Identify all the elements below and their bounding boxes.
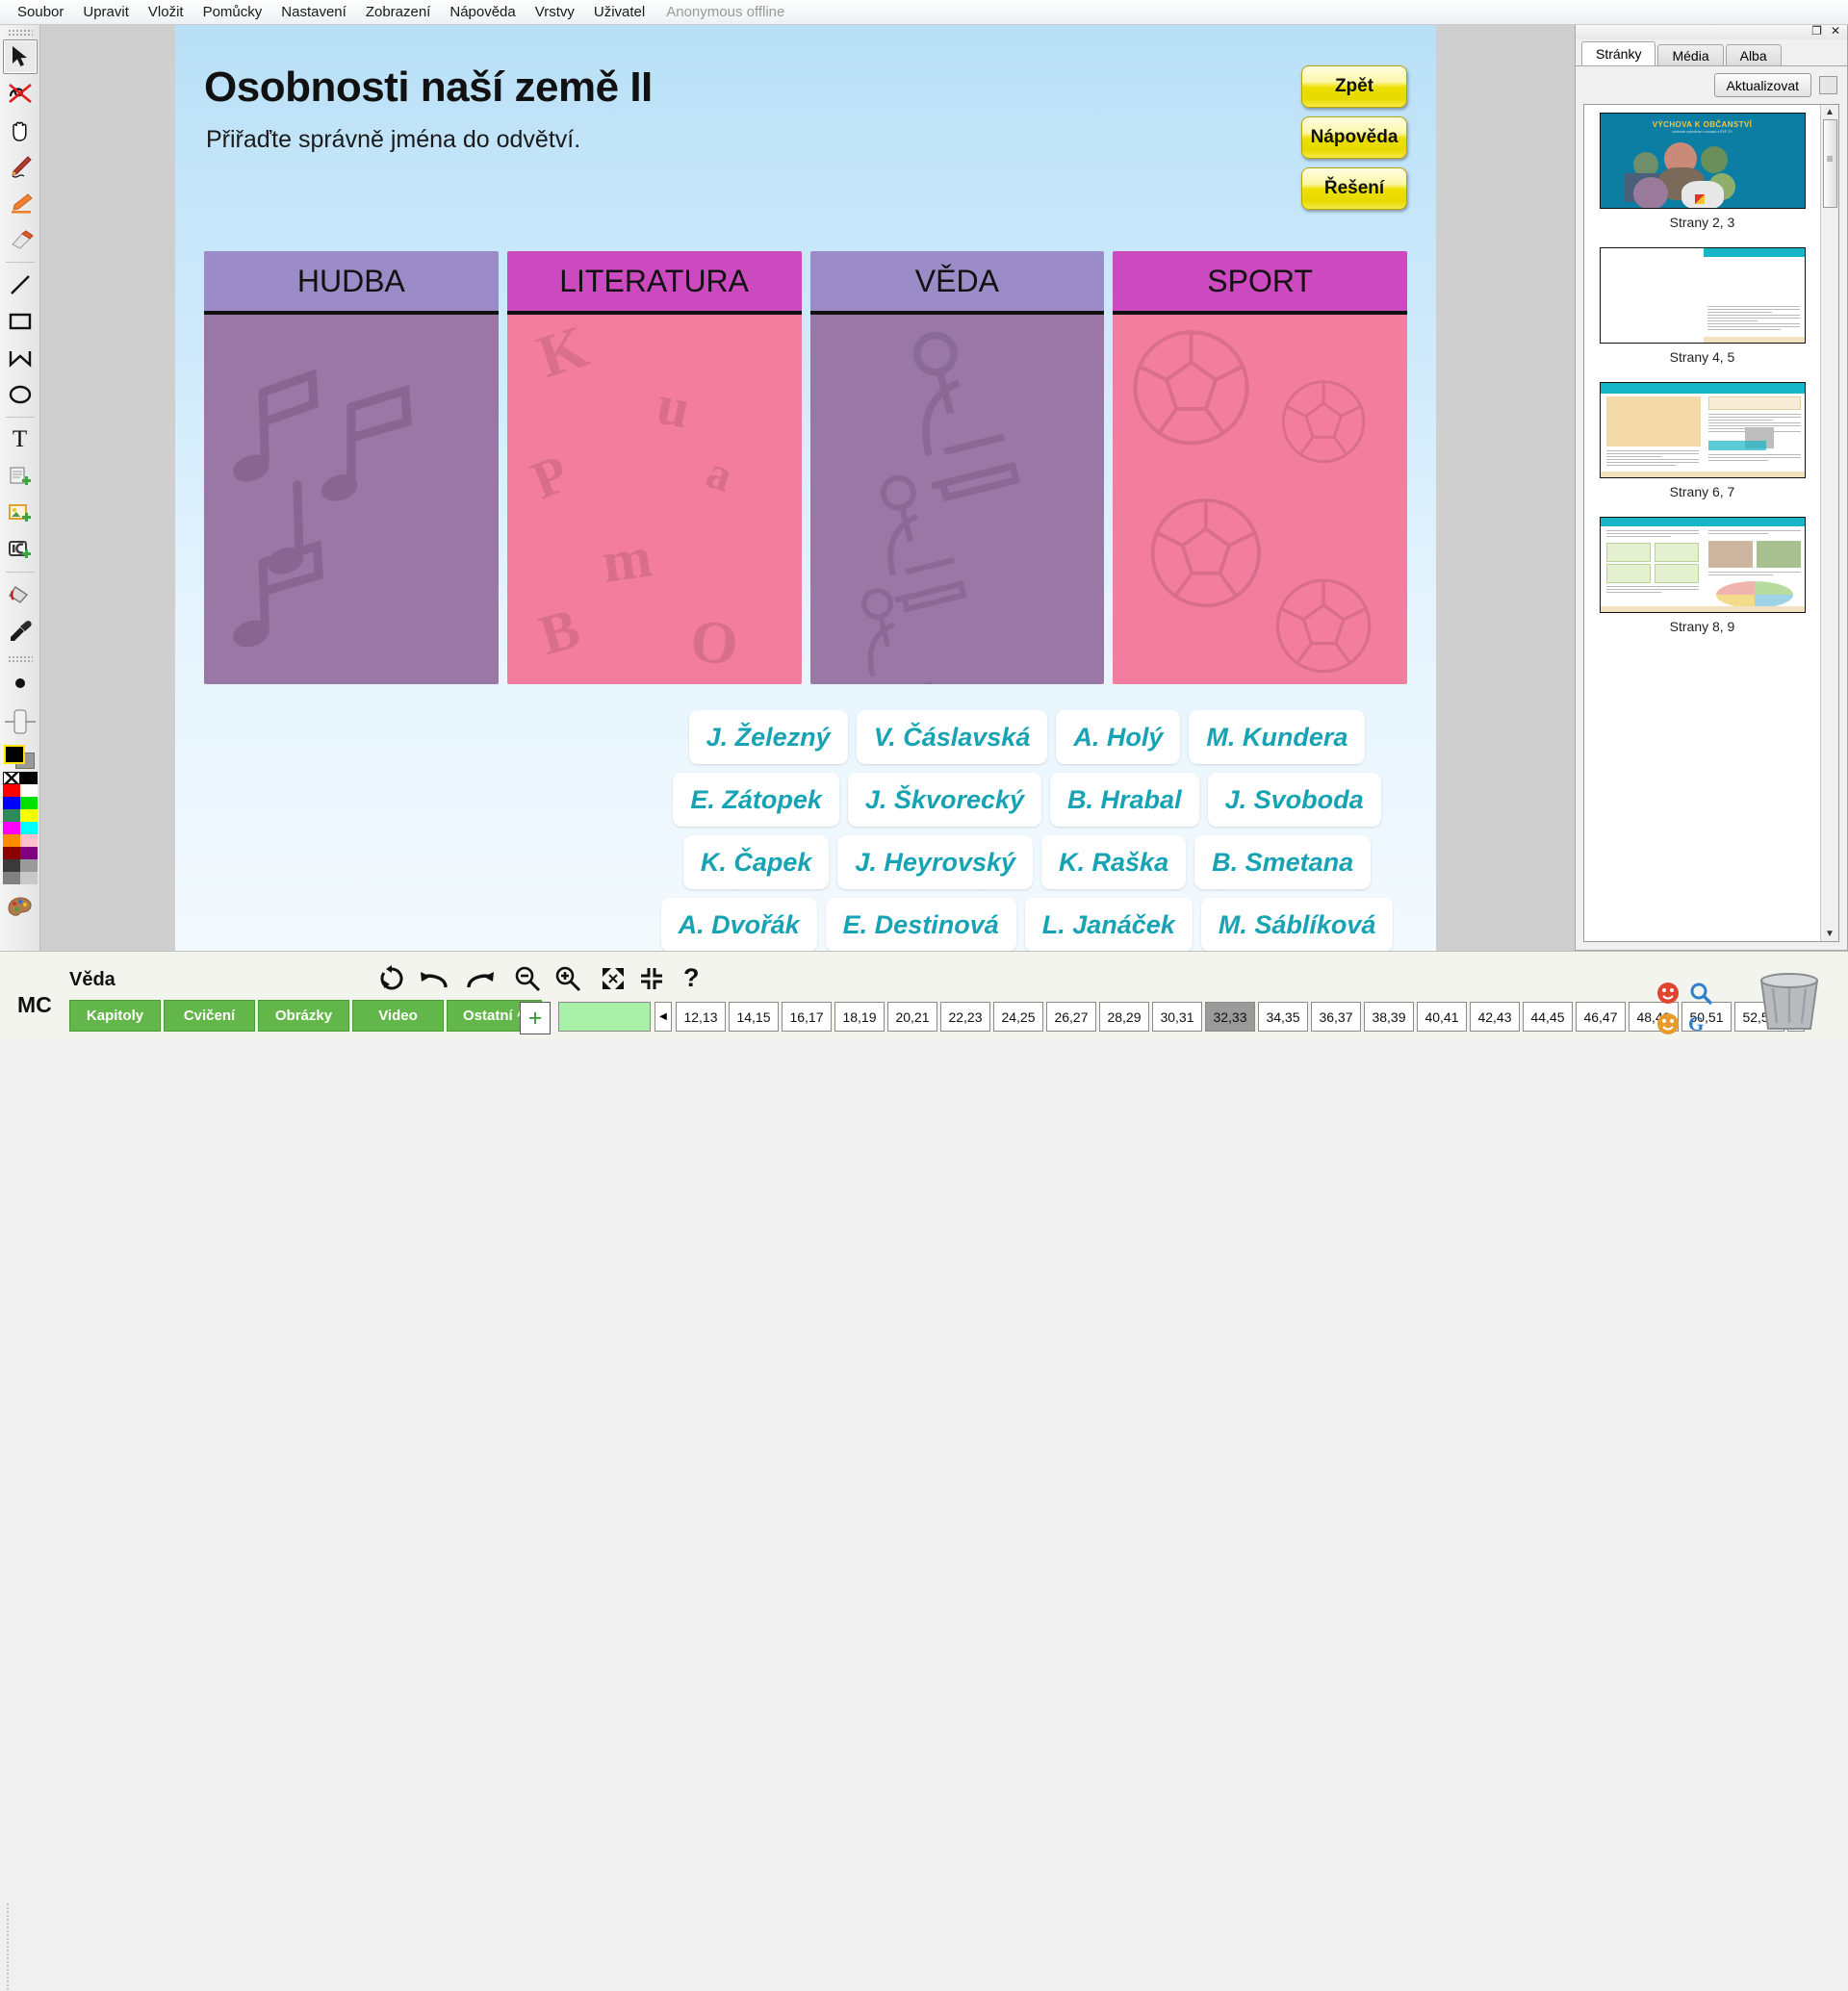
name-tile[interactable]: J. Heyrovský [837,835,1033,889]
page-button[interactable]: 20,21 [887,1002,937,1032]
smiley-red-icon[interactable] [1655,981,1681,1006]
menu-item-vlozit[interactable]: Vložit [139,1,193,23]
soccer-balls-decor [1113,315,1407,684]
color-swatch[interactable] [20,809,38,822]
left-toolbar: T [0,25,40,1039]
page-navigator: ◀ 12,1314,1516,1718,1920,2122,2324,2526,… [654,1002,1805,1032]
search-blue-icon[interactable] [1688,981,1713,1006]
erase-annotations-icon[interactable] [3,76,38,111]
smiley-orange-icon[interactable] [1655,1011,1681,1036]
page-button[interactable]: 32,33 [1205,1002,1255,1032]
svg-text:a: a [700,446,738,502]
thumbnail-list[interactable]: VÝCHOVA K OBČANSTVÍ učebnice vytvořena v… [1584,105,1820,941]
page-button[interactable]: 34,35 [1258,1002,1308,1032]
panel-scrollbar[interactable]: ▲ ▼ [1820,105,1838,941]
name-tile[interactable]: M. Sáblíková [1201,898,1394,951]
name-tile[interactable]: K. Čapek [683,835,830,889]
auto-refresh-checkbox[interactable] [1819,76,1837,94]
fullscreen-collapse-icon[interactable] [639,966,664,991]
page-button[interactable]: 38,39 [1364,1002,1414,1032]
color-swatch[interactable] [3,797,20,809]
name-tile[interactable]: V. Čáslavská [857,710,1048,764]
bottom-grip[interactable] [0,1902,13,1991]
color-palette-grid[interactable] [3,772,38,884]
page-thumbnail[interactable]: VÝCHOVA K OBČANSTVÍ učebnice vytvořena v… [1600,113,1806,209]
thumbnail-caption: Strany 2, 3 [1670,215,1735,230]
zoom-out-icon[interactable] [514,965,541,992]
slide-content[interactable]: Osobnosti naší země II Přiřaďte správně … [175,25,1436,951]
scroll-down-arrow[interactable]: ▼ [1825,929,1835,939]
polygon-icon[interactable] [3,341,38,375]
menu-item-soubor[interactable]: Soubor [8,1,73,23]
category-literatura[interactable]: LITERATURA K u P a m B O [507,251,802,684]
eyedropper-icon[interactable] [3,614,38,649]
line-icon[interactable] [3,268,38,302]
tab-media[interactable]: Média [1657,44,1723,65]
bottom-bar: MC Věda Kapitoly Cvičení Obrázky Video O… [0,951,1848,1039]
cover-title: VÝCHOVA K OBČANSTVÍ [1601,120,1805,129]
name-row: J. Železný V. Čáslavská A. Holý M. Kunde… [560,710,1494,764]
category-button-bar: Kapitoly Cvičení Obrázky Video Ostatní ^ [69,1000,542,1032]
refresh-button[interactable]: Aktualizovat [1714,73,1811,97]
page-button[interactable]: 26,27 [1046,1002,1096,1032]
hand-pan-icon[interactable] [3,113,38,147]
thumbnail-caption: Strany 4, 5 [1670,349,1735,365]
page-button[interactable]: 22,23 [940,1002,990,1032]
name-row: A. Dvořák E. Destinová L. Janáček M. Sáb… [560,898,1494,951]
menu-item-napoveda[interactable]: Nápověda [440,1,525,23]
name-tile[interactable]: J. Železný [689,710,848,764]
menu-item-uzivatel[interactable]: Uživatel [584,1,654,23]
menu-item-nastaveni[interactable]: Nastavení [271,1,356,23]
canvas-area[interactable]: Osobnosti naší země II Přiřaďte správně … [40,25,1575,951]
color-swatch[interactable] [3,872,20,884]
category-label: HUDBA [204,251,499,315]
color-swatch[interactable] [20,797,38,809]
microscope-decor [810,315,1105,684]
color-swatch[interactable] [20,784,38,797]
category-hudba[interactable]: HUDBA [204,251,499,684]
trash-bin-icon[interactable] [1750,969,1829,1033]
app-logo: MC [17,992,52,1018]
pages-panel: ❐ ✕ Stránky Média Alba Aktualizovat VÝCH… [1575,21,1848,951]
list-item[interactable]: Strany 8, 9 [1584,517,1820,634]
page-thumbnail[interactable] [1600,517,1806,613]
tab-alba[interactable]: Alba [1726,44,1782,65]
thumbnail-caption: Strany 6, 7 [1670,484,1735,499]
menu-item-pomucky[interactable]: Pomůcky [193,1,272,23]
svg-text:B: B [532,597,586,667]
page-button[interactable]: 30,31 [1152,1002,1202,1032]
images-button[interactable]: Obrázky [258,1000,349,1032]
color-swatch[interactable] [3,847,20,859]
page-button[interactable]: 44,45 [1523,1002,1573,1032]
color-swatch[interactable] [3,772,20,784]
page-button[interactable]: 16,17 [782,1002,832,1032]
rectangle-icon[interactable] [3,304,38,339]
color-swatch[interactable] [20,872,38,884]
page-button[interactable]: 46,47 [1576,1002,1626,1032]
category-label: VĚDA [810,251,1105,315]
thumbnail-list-container: VÝCHOVA K OBČANSTVÍ učebnice vytvořena v… [1583,104,1839,942]
tab-stranky[interactable]: Stránky [1581,41,1655,65]
zoom-in-icon[interactable] [554,965,581,992]
svg-text:m: m [598,525,655,596]
corner-icon-row [1655,981,1713,1006]
name-tiles: J. Železný V. Čáslavská A. Holý M. Kunde… [560,710,1494,951]
page-button[interactable]: 18,19 [834,1002,885,1032]
category-columns: HUDBA [204,251,1407,684]
list-item[interactable]: Strany 6, 7 [1584,382,1820,499]
color-swatch[interactable] [3,822,20,834]
section-title: Věda [69,969,115,991]
svg-text:O: O [687,606,741,677]
color-swatch[interactable] [20,772,38,784]
opacity-slider-icon[interactable] [3,702,38,741]
name-tile[interactable]: M. Kundera [1189,710,1365,764]
toolbar-divider-2 [6,417,35,418]
toolbar-grip[interactable] [8,29,33,36]
scroll-up-arrow[interactable]: ▲ [1825,107,1835,117]
add-page-button[interactable]: + [520,1002,551,1034]
back-button[interactable]: Zpět [1301,65,1407,108]
page-button[interactable]: 28,29 [1099,1002,1149,1032]
scrollbar-thumb[interactable] [1823,119,1837,208]
svg-text:u: u [652,373,696,441]
color-swatch[interactable] [3,834,20,847]
music-notes-decor [204,315,499,684]
rotate-icon[interactable] [377,965,406,992]
panel-tabs: Stránky Média Alba [1576,39,1847,65]
page-button[interactable]: 14,15 [729,1002,779,1032]
toolbar-divider-3 [6,572,35,573]
google-g-icon[interactable]: G [1688,1012,1704,1036]
color-swatch[interactable] [3,859,20,872]
solution-button[interactable]: Řešení [1301,167,1407,210]
account-status-text: Anonymous offline [654,1,796,23]
page-button[interactable]: 12,13 [676,1002,726,1032]
view-tool-icons: ? [377,963,700,993]
cover-subtitle: učebnice vytvořena v souladu s RVP ZV [1601,130,1805,134]
ellipse-icon[interactable] [3,377,38,412]
category-sport[interactable]: SPORT [1113,251,1407,684]
add-note-icon[interactable] [3,459,38,494]
svg-text:K: K [529,315,596,391]
current-page-indicator[interactable] [558,1002,651,1032]
chapters-button[interactable]: Kapitoly [69,1000,161,1032]
cover-art: VÝCHOVA K OBČANSTVÍ učebnice vytvořena v… [1601,114,1805,208]
name-tile[interactable]: A. Dvořák [661,898,817,951]
name-tile[interactable]: B. Hrabal [1050,773,1199,827]
pen-icon[interactable] [3,149,38,184]
name-tile[interactable]: J. Škvorecký [848,773,1041,827]
current-color-swatch[interactable] [4,745,37,770]
menu-item-zobrazeni[interactable]: Zobrazení [356,1,441,23]
page-button[interactable]: 40,41 [1417,1002,1467,1032]
foreground-color-chip[interactable] [4,745,25,764]
thumbnail-caption: Strany 8, 9 [1670,619,1735,634]
color-swatch[interactable] [3,784,20,797]
color-swatch[interactable] [20,834,38,847]
page-title: Osobnosti naší země II [204,64,653,112]
name-row: E. Zátopek J. Škvorecký B. Hrabal J. Svo… [560,773,1494,827]
name-tile[interactable]: A. Holý [1056,710,1180,764]
color-swatch[interactable] [20,822,38,834]
category-label: LITERATURA [507,251,802,315]
name-tile[interactable]: E. Zátopek [673,773,839,827]
list-item[interactable]: Strany 4, 5 [1584,247,1820,365]
corner-icon-row: G [1655,1011,1713,1036]
name-tile[interactable]: B. Smetana [1194,835,1371,889]
toolbar-grip-2[interactable] [8,655,33,662]
dot-size-icon[interactable] [3,666,38,701]
page-button-strip: 12,1314,1516,1718,1920,2122,2324,2526,27… [676,1002,1787,1032]
toolbar-divider [6,262,35,263]
help-question-icon[interactable]: ? [683,963,700,993]
add-image-icon[interactable] [3,496,38,530]
menu-bar: Soubor Upravit Vložit Pomůcky Nastavení … [0,0,1848,25]
page-thumbnail[interactable] [1600,382,1806,478]
eraser-icon[interactable] [3,222,38,257]
corner-icon-cluster: G [1655,981,1713,1036]
menu-item-upravit[interactable]: Upravit [73,1,139,23]
list-item[interactable]: VÝCHOVA K OBČANSTVÍ učebnice vytvořena v… [1584,113,1820,230]
category-veda[interactable]: VĚDA [810,251,1105,684]
svg-text:P: P [524,444,577,511]
category-label: SPORT [1113,251,1407,315]
video-button[interactable]: Video [352,1000,444,1032]
page-instruction: Přiřaďte správně jména do odvětví. [206,126,580,154]
name-tile[interactable]: E. Destinová [826,898,1016,951]
panel-toolbar: Aktualizovat [1576,65,1847,104]
page-button[interactable]: 42,43 [1470,1002,1520,1032]
close-icon[interactable]: ✕ [1831,25,1840,37]
color-palette-icon[interactable] [3,890,38,925]
page-button[interactable]: 36,37 [1311,1002,1361,1032]
menu-item-vrstvy[interactable]: Vrstvy [526,1,584,23]
name-tile[interactable]: K. Raška [1041,835,1186,889]
name-tile[interactable]: L. Janáček [1025,898,1193,951]
letters-decor: K u P a m B O [507,315,802,684]
undo-icon[interactable] [420,966,450,991]
color-swatch[interactable] [20,847,38,859]
add-object-icon[interactable] [3,532,38,567]
text-icon[interactable]: T [3,422,38,457]
restore-icon[interactable]: ❐ [1811,25,1822,37]
fullscreen-expand-icon[interactable] [601,966,626,991]
color-swatch[interactable] [3,809,20,822]
page-thumbnail[interactable] [1600,247,1806,344]
name-tile[interactable]: J. Svoboda [1208,773,1381,827]
name-row: K. Čapek J. Heyrovský K. Raška B. Smetan… [560,835,1494,889]
select-arrow-icon[interactable] [3,39,38,74]
exercises-button[interactable]: Cvičení [164,1000,255,1032]
fill-bucket-icon[interactable] [3,577,38,612]
page-button[interactable]: 24,25 [993,1002,1043,1032]
help-button[interactable]: Nápověda [1301,116,1407,159]
highlighter-icon[interactable] [3,186,38,220]
page-prev-arrow[interactable]: ◀ [654,1002,672,1032]
color-swatch[interactable] [20,859,38,872]
redo-icon[interactable] [464,966,495,991]
